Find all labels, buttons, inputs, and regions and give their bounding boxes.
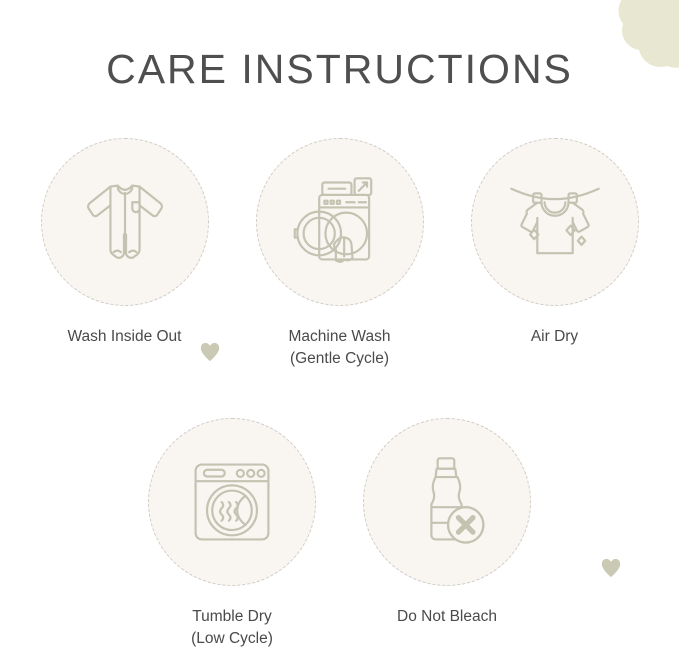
- icon-circle: [256, 138, 424, 306]
- care-item-label: Machine Wash (Gentle Cycle): [289, 326, 391, 370]
- care-item-label: Do Not Bleach: [397, 606, 497, 628]
- care-item-label: Tumble Dry (Low Cycle): [191, 606, 273, 650]
- icon-circle: [363, 418, 531, 586]
- care-item-wash-inside-out: Wash Inside Out: [17, 138, 232, 370]
- care-item-air-dry: Air Dry: [447, 138, 662, 370]
- baby-onesie-icon: [73, 170, 177, 274]
- clothesline-airdry-icon: [503, 170, 607, 274]
- heart-divider-decoration: [199, 341, 221, 363]
- care-item-label: Air Dry: [531, 326, 578, 348]
- icon-circle: [471, 138, 639, 306]
- care-item-label: Wash Inside Out: [67, 326, 181, 348]
- care-instructions-page: CARE INSTRUCTIONS: [0, 0, 679, 668]
- page-title: CARE INSTRUCTIONS: [0, 46, 679, 93]
- care-item-tumble-dry: Tumble Dry (Low Cycle): [125, 418, 340, 650]
- no-bleach-bottle-icon: [395, 450, 499, 554]
- care-items-row-top: Wash Inside Out: [0, 138, 679, 370]
- care-item-machine-wash: Machine Wash (Gentle Cycle): [232, 138, 447, 370]
- washing-machine-icon: [288, 170, 392, 274]
- care-items-row-bottom: Tumble Dry (Low Cycle): [0, 418, 679, 650]
- heart-corner-decoration: [600, 557, 622, 579]
- icon-circle: [41, 138, 209, 306]
- icon-circle: [148, 418, 316, 586]
- care-item-do-not-bleach: Do Not Bleach: [340, 418, 555, 650]
- tumble-dryer-icon: [180, 450, 284, 554]
